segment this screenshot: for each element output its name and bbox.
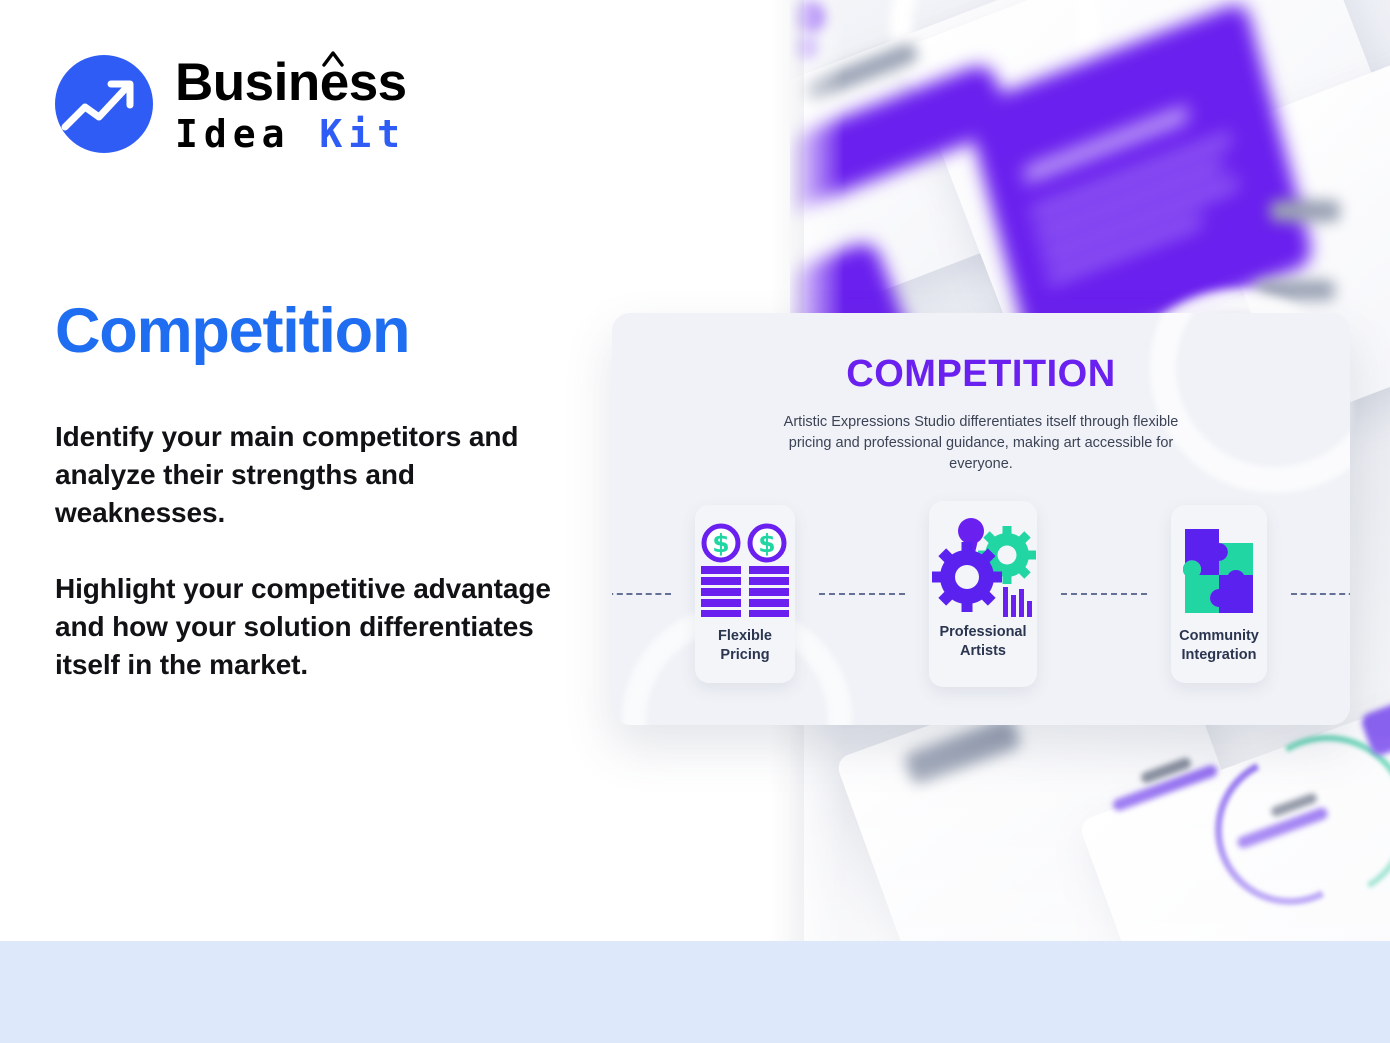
connector-line-right — [1291, 593, 1350, 595]
connector-line-2 — [1061, 593, 1147, 595]
brand-business-text: Business — [175, 53, 407, 112]
bg-grey-pill — [1270, 200, 1340, 222]
brand-line-idea-kit: Idea Kit — [175, 115, 407, 153]
feature-tile-label: Flexible Pricing — [718, 627, 772, 665]
card-subtitle: Artistic Expressions Studio differentiat… — [766, 412, 1196, 475]
bottom-accent-strip — [0, 941, 1390, 1043]
tile-label-line: Community — [1179, 628, 1259, 644]
card-title: COMPETITION — [612, 353, 1350, 396]
feature-tile-label: Professional Artists — [939, 623, 1026, 661]
tile-label-line: Integration — [1182, 647, 1257, 663]
feature-tile-label: Community Integration — [1179, 627, 1259, 665]
bg-purple-dot — [790, 34, 816, 60]
description-block: Identify your main competitors and analy… — [55, 418, 575, 684]
description-paragraph: Identify your main competitors and analy… — [55, 418, 575, 532]
brand-kit-text: Kit — [319, 112, 406, 156]
feature-tiles-row: $ $ — [612, 501, 1350, 687]
page-title: Competition — [55, 295, 409, 367]
brand-line-business: Business — [175, 56, 407, 109]
brand-idea-text: Idea — [175, 112, 291, 156]
bg-purple-dot — [790, 0, 824, 34]
feature-tile-flexible-pricing[interactable]: $ $ — [695, 505, 795, 683]
brand-logo: Business Idea Kit — [55, 55, 407, 153]
bg-card-title-bar — [1022, 106, 1189, 182]
growth-arrow-chart-icon — [55, 55, 153, 153]
svg-text:$: $ — [758, 529, 775, 558]
connector-line-left — [612, 593, 671, 595]
svg-text:$: $ — [712, 529, 729, 558]
gears-lightbulb-chart-icon — [929, 515, 1037, 619]
coin-stacks-dollar-icon: $ $ — [695, 519, 795, 623]
tile-label-line: Flexible — [718, 628, 772, 644]
tile-label-line: Professional — [939, 624, 1026, 640]
feature-tile-community-integration[interactable]: Community Integration — [1171, 505, 1267, 683]
feature-tile-professional-artists[interactable]: Professional Artists — [929, 501, 1037, 687]
slide-canvas: Business Idea Kit Competition Identify y… — [0, 0, 1390, 1043]
connector-line-1 — [819, 593, 905, 595]
tile-label-line: Pricing — [720, 647, 769, 663]
description-paragraph: Highlight your competitive advantage and… — [55, 570, 575, 684]
puzzle-pieces-icon — [1171, 519, 1267, 623]
brand-wordmark: Business Idea Kit — [175, 56, 407, 153]
circumflex-accent-icon — [321, 50, 345, 68]
competition-preview-card: COMPETITION Artistic Expressions Studio … — [612, 313, 1350, 725]
tile-label-line: Artists — [960, 643, 1006, 659]
